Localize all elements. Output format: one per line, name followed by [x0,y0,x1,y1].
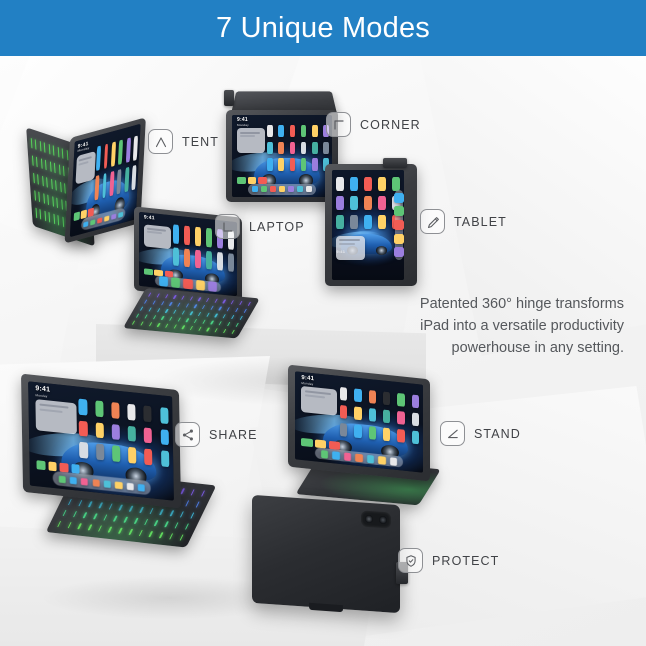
camera-lens [379,516,387,525]
dock-icon[interactable] [92,479,99,487]
dock-icon[interactable] [270,186,276,192]
app-icon[interactable] [364,215,372,229]
mode-label-text: CORNER [360,118,421,132]
dock-icon[interactable] [159,276,168,286]
app-icon[interactable] [79,421,87,437]
app-icon[interactable] [117,169,122,194]
app-icon[interactable] [350,177,358,191]
dock-icon[interactable] [306,186,312,192]
app-icon[interactable] [354,406,361,420]
app-icon[interactable] [278,158,284,170]
app-icon[interactable] [206,251,212,270]
app-icon[interactable] [350,215,358,229]
app-icon[interactable] [378,196,386,210]
app-icon[interactable] [128,426,136,442]
app-icon[interactable] [364,177,372,191]
app-icon-grid [340,387,419,445]
home-widget [336,236,365,260]
status-clock: 9:41 [144,215,155,222]
app-icon[interactable] [301,125,307,137]
app-icon[interactable] [173,224,179,243]
app-icon[interactable] [160,408,168,424]
stand-angle-icon [440,421,465,446]
app-icon[interactable] [237,177,246,184]
dock [395,190,403,260]
device-stand-mode: 9:41 Monday [288,372,448,502]
home-widget [301,386,337,416]
status-bar: 9:41 Monday [35,385,50,399]
app-icon[interactable] [354,424,361,438]
app-icon-grid [267,125,329,171]
keyboard-keys [132,292,251,334]
app-icon[interactable] [267,142,273,154]
app-icon[interactable] [195,227,201,246]
app-icon[interactable] [354,388,361,402]
status-date: Monday [237,124,249,128]
app-icon[interactable] [126,138,131,163]
mode-label-text: TENT [182,135,219,149]
app-icon[interactable] [278,125,284,137]
dock-icon[interactable] [297,186,303,192]
hinge-tab [383,158,407,168]
dock-icon[interactable] [288,186,294,192]
home-widget [144,224,171,249]
app-icon[interactable] [383,409,390,423]
app-icon[interactable] [312,142,318,154]
app-icon[interactable] [278,142,284,154]
app-icon[interactable] [378,177,386,191]
app-icon[interactable] [94,175,99,200]
app-icon[interactable] [397,393,404,407]
dock-icon[interactable] [390,457,398,465]
app-icon[interactable] [336,196,344,210]
app-icon[interactable] [79,442,87,458]
tablet-screen: 9:41 Monday [28,381,174,500]
app-icon[interactable] [340,405,347,419]
app-icon[interactable] [412,430,419,444]
dock-icon[interactable] [104,480,111,488]
app-icon[interactable] [128,447,136,463]
app-icon[interactable] [397,411,404,425]
case-shell-closed [252,495,400,613]
tablet-screen: 9:41 Monday [232,115,332,197]
dock-icon[interactable] [104,215,109,221]
app-icon-grid [336,177,399,230]
widget-app-row [237,177,267,184]
corner-bracket-icon [326,112,351,137]
app-icon[interactable] [383,391,390,405]
tent-icon [148,129,173,154]
tablet-screen: 9:41 Monday [295,371,423,472]
app-icon[interactable] [383,427,390,441]
app-icon[interactable] [369,408,376,422]
mode-label-tent[interactable]: TENT [148,129,219,154]
app-icon[interactable] [112,424,120,440]
app-icon[interactable] [267,158,273,170]
app-icon[interactable] [336,215,344,229]
device-share-mode: 9:41 Monday [22,382,222,542]
app-icon[interactable] [206,228,212,247]
dock-icon[interactable] [367,455,375,463]
app-icon[interactable] [340,387,347,401]
app-icon[interactable] [301,438,312,447]
mode-label-text: TABLET [454,215,507,229]
dock-icon[interactable] [138,483,145,491]
header-banner: 7 Unique Modes [0,0,646,56]
app-icon[interactable] [248,177,257,184]
app-icon[interactable] [111,403,119,419]
app-icon[interactable] [364,196,372,210]
laptop-bracket-icon [215,214,240,239]
tablet-screen: 9:41 [332,170,404,280]
app-icon[interactable] [301,158,307,170]
dock-icon[interactable] [196,280,205,290]
camera-bump [361,510,391,528]
dock-icon[interactable] [126,482,133,490]
app-icon[interactable] [228,253,234,272]
description-paragraph: Patented 360° hinge transforms iPad into… [394,293,624,359]
home-widget [237,128,265,153]
tablet-stand: 9:41 Monday [288,365,430,482]
dock-icon[interactable] [58,475,65,483]
app-icon[interactable] [184,225,190,244]
app-icon[interactable] [290,142,296,154]
app-icon[interactable] [397,429,404,443]
page-title: 7 Unique Modes [216,12,430,45]
app-icon[interactable] [258,177,267,184]
dock-icon[interactable] [183,279,192,289]
app-icon[interactable] [301,142,307,154]
app-icon[interactable] [95,422,103,438]
app-icon-grid [79,399,169,467]
mode-label-text: SHARE [209,428,258,442]
app-icon[interactable] [144,406,152,422]
dock-icon[interactable] [70,476,77,484]
dock-icon[interactable] [332,451,340,459]
app-icon[interactable] [102,173,107,198]
tablet-share: 9:41 Monday [21,374,181,509]
app-icon[interactable] [144,427,152,443]
app-icon[interactable] [124,167,129,192]
dock-icon[interactable] [97,217,102,223]
app-icon[interactable] [340,423,347,437]
app-icon[interactable] [312,158,318,170]
dock-icon[interactable] [394,193,404,203]
app-icon[interactable] [127,404,135,420]
stylus-pencil-icon [420,209,445,234]
app-icon[interactable] [267,125,273,137]
app-icon[interactable] [412,412,419,426]
app-icon[interactable] [160,429,168,445]
app-icon[interactable] [323,142,329,154]
app-icon[interactable] [74,211,80,221]
app-icon[interactable] [96,444,104,460]
dock-icon[interactable] [171,277,180,287]
dock-icon[interactable] [208,281,217,291]
app-icon[interactable] [118,140,123,165]
dock-icon[interactable] [90,219,95,225]
mode-label-stand[interactable]: STAND [440,421,521,446]
mode-label-protect[interactable]: PROTECT [398,548,499,573]
mode-label-text: LAPTOP [249,220,305,234]
dock-icon[interactable] [115,481,122,489]
app-icon[interactable] [195,249,201,268]
app-icon[interactable] [103,144,108,169]
dock-icon[interactable] [355,453,363,461]
app-icon[interactable] [350,196,358,210]
app-icon[interactable] [96,146,101,171]
dock-icon[interactable] [321,450,329,458]
dock-icon[interactable] [252,186,258,192]
dock-icon[interactable] [394,247,404,257]
device-protect-mode [252,500,400,608]
app-icon[interactable] [173,247,179,266]
app-icon[interactable] [312,125,318,137]
app-icon[interactable] [290,125,296,137]
dock-icon[interactable] [394,220,404,230]
mode-label-laptop[interactable]: LAPTOP [215,214,305,239]
app-icon[interactable] [79,399,87,415]
home-widget [36,399,77,434]
product-infographic: 7 Unique Modes [0,0,646,646]
mode-label-text: STAND [474,427,521,441]
app-icon[interactable] [290,158,296,170]
app-icon[interactable] [95,401,103,417]
dock-icon[interactable] [261,186,267,192]
app-icon[interactable] [161,450,169,466]
status-bar: 9:41 [144,215,155,222]
shield-check-icon [398,548,423,573]
dock [248,184,316,195]
car-wheel [376,246,387,255]
app-icon[interactable] [369,426,376,440]
dock-icon[interactable] [279,186,285,192]
app-icon[interactable] [336,177,344,191]
dock-icon[interactable] [111,213,116,219]
app-icon[interactable] [48,461,57,471]
dock-icon[interactable] [81,478,88,486]
dock-icon[interactable] [394,206,404,216]
camera-lens [365,515,373,524]
dock-icon[interactable] [83,221,88,227]
dock-icon[interactable] [344,452,352,460]
dock-icon[interactable] [378,456,386,464]
app-icon[interactable] [144,268,153,276]
app-icon[interactable] [144,449,152,465]
app-icon[interactable] [369,390,376,404]
device-tablet-mode: 9:41 [325,164,417,286]
hinge-tab [224,90,234,106]
mode-label-share[interactable]: SHARE [175,422,258,447]
app-icon[interactable] [112,445,120,461]
status-bar: 9:41 Monday [237,117,249,127]
app-icon[interactable] [37,460,46,470]
mode-label-text: PROTECT [432,554,499,568]
app-icon[interactable] [109,171,114,196]
tablet-corner: 9:41 Monday [226,110,338,202]
app-icon[interactable] [378,215,386,229]
app-icon[interactable] [412,394,419,408]
app-icon[interactable] [184,248,190,267]
share-nodes-icon [175,422,200,447]
dock-icon[interactable] [394,234,404,244]
dock-icon[interactable] [118,211,123,217]
mode-label-tablet[interactable]: TABLET [420,209,507,234]
mode-label-corner[interactable]: CORNER [326,112,421,137]
app-icon[interactable] [392,177,400,191]
app-icon[interactable] [111,142,116,167]
app-icon[interactable] [217,252,223,271]
